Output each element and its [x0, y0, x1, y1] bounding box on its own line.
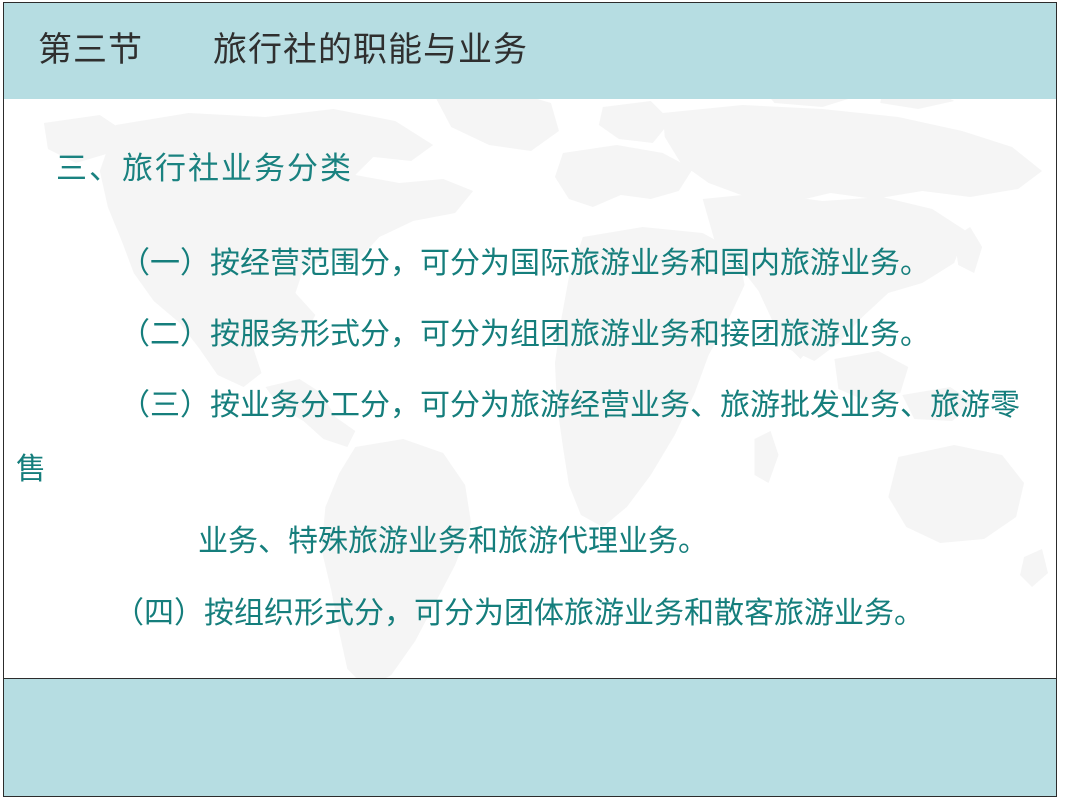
- body-line-3-continued: 业务、特殊旅游业务和旅游代理业务。: [198, 523, 708, 561]
- slide-content-area: 三、旅行社业务分类 （一）按经营范围分，可分为国际旅游业务和国内旅游业务。 （二…: [4, 99, 1056, 679]
- slide-header-band: 第三节 旅行社的职能与业务: [4, 3, 1056, 99]
- body-line-4: （四）按组织形式分，可分为团体旅游业务和散客旅游业务。: [114, 595, 924, 633]
- slide-root: 第三节 旅行社的职能与业务: [3, 2, 1057, 797]
- body-line-3: （三）按业务分工分，可分为旅游经营业务、旅游批发业务、旅游零: [120, 387, 1020, 425]
- slide-footer-band: [4, 678, 1056, 796]
- slide-text-block: 三、旅行社业务分类 （一）按经营范围分，可分为国际旅游业务和国内旅游业务。 （二…: [4, 99, 1056, 679]
- body-line-3-wrap: 售: [16, 451, 46, 489]
- page-title: 第三节 旅行社的职能与业务: [38, 27, 528, 75]
- body-line-1: （一）按经营范围分，可分为国际旅游业务和国内旅游业务。: [120, 245, 930, 283]
- body-line-2: （二）按服务形式分，可分为组团旅游业务和接团旅游业务。: [120, 316, 930, 354]
- section-heading: 三、旅行社业务分类: [56, 149, 353, 189]
